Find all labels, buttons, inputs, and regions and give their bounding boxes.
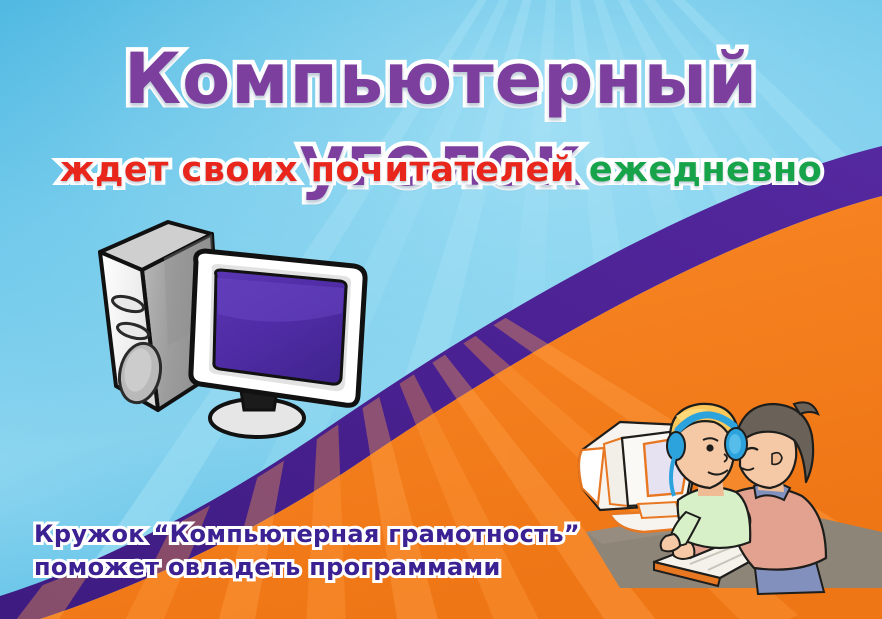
lcd-monitor-icon: [191, 251, 365, 437]
children-at-computer-illustration: [558, 392, 882, 619]
poster-subtitle-red: ждет своих почитателей: [60, 148, 575, 192]
desktop-computer-illustration: [72, 218, 382, 448]
poster-subtitle-green: ежедневно: [589, 148, 822, 192]
poster-footer-line-2: поможет овладеть программами: [34, 551, 580, 584]
poster-canvas: Компьютерный уголок ждет своих почитател…: [0, 0, 882, 619]
poster-footer-line-1: Кружок “Компьютерная грамотность”: [34, 518, 580, 551]
poster-subtitle-row: ждет своих почитателейежедневно: [0, 148, 882, 192]
poster-footer-block: Кружок “Компьютерная грамотность” поможе…: [34, 518, 580, 584]
